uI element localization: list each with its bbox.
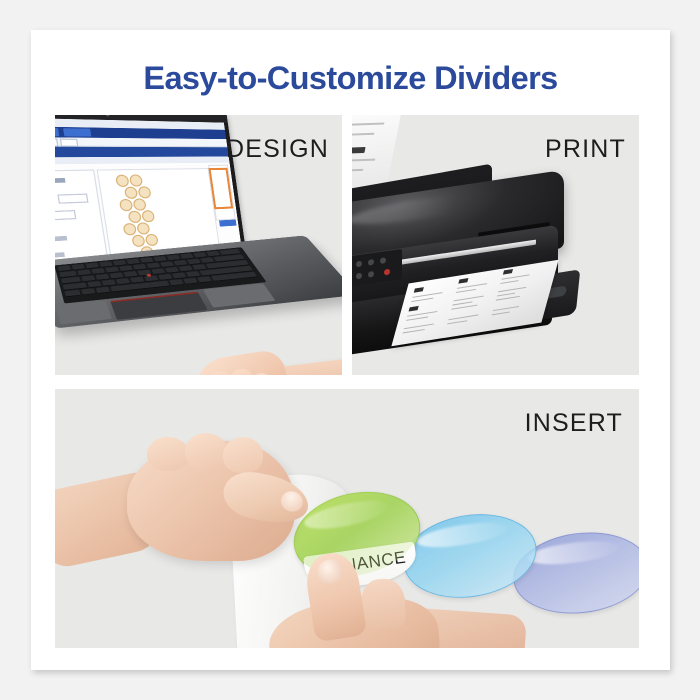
product-card: Easy-to-Customize Dividers <box>31 30 670 670</box>
knuckle <box>147 437 189 471</box>
app-form-field-1 <box>57 194 88 204</box>
canvas-art-item <box>138 186 152 198</box>
canvas-art-item <box>129 174 143 186</box>
printer-button <box>380 257 386 264</box>
app-tab-3 <box>63 128 91 136</box>
canvas-art-item <box>123 223 137 236</box>
finger-lower-secondary <box>360 578 406 630</box>
app-toolbar <box>55 137 227 148</box>
app-tool-4 <box>60 139 79 147</box>
fingernail <box>314 556 346 587</box>
tab-highlight <box>527 537 621 568</box>
tab-highlight <box>416 518 510 552</box>
app-rail-button <box>219 220 236 227</box>
printer-power-button <box>384 269 390 276</box>
printer-button <box>368 271 374 278</box>
app-tabstrip <box>55 156 230 164</box>
trackpoint-nub <box>146 274 151 277</box>
laptop-palmrest-left <box>56 300 112 324</box>
canvas-art-item <box>115 175 130 187</box>
app-form-field-2 <box>55 210 76 221</box>
panel-label-print: PRINT <box>545 137 626 162</box>
panel-design: DESIGN <box>55 115 342 375</box>
page-title: Easy-to-Customize Dividers <box>31 60 670 97</box>
canvas-art-item <box>124 187 138 199</box>
canvas-art-item <box>128 211 142 224</box>
panel-label-design: DESIGN <box>226 137 329 162</box>
canvas-art-item <box>133 198 147 210</box>
printer-button <box>356 273 362 280</box>
hand-on-trackpad <box>189 349 342 375</box>
canvas-art-item <box>145 234 159 247</box>
product-image-root: Easy-to-Customize Dividers <box>0 0 700 700</box>
hand-lower <box>291 567 501 648</box>
canvas-art-item <box>141 210 155 222</box>
panel-print: PRINT <box>352 115 639 375</box>
panel-insert: FINANCE <box>55 389 639 648</box>
canvas-art-item <box>131 234 145 247</box>
knuckle <box>185 433 227 469</box>
knuckle <box>223 437 263 473</box>
app-form-label-3 <box>55 236 67 245</box>
panel-label-insert: INSERT <box>525 411 623 436</box>
webcam-icon <box>105 115 109 117</box>
canvas-art-item <box>136 222 150 235</box>
printer-button <box>368 259 374 266</box>
printer-button <box>356 261 362 268</box>
canvas-art-item <box>119 199 133 212</box>
fingernail <box>278 488 306 515</box>
app-panel-title <box>55 178 66 184</box>
